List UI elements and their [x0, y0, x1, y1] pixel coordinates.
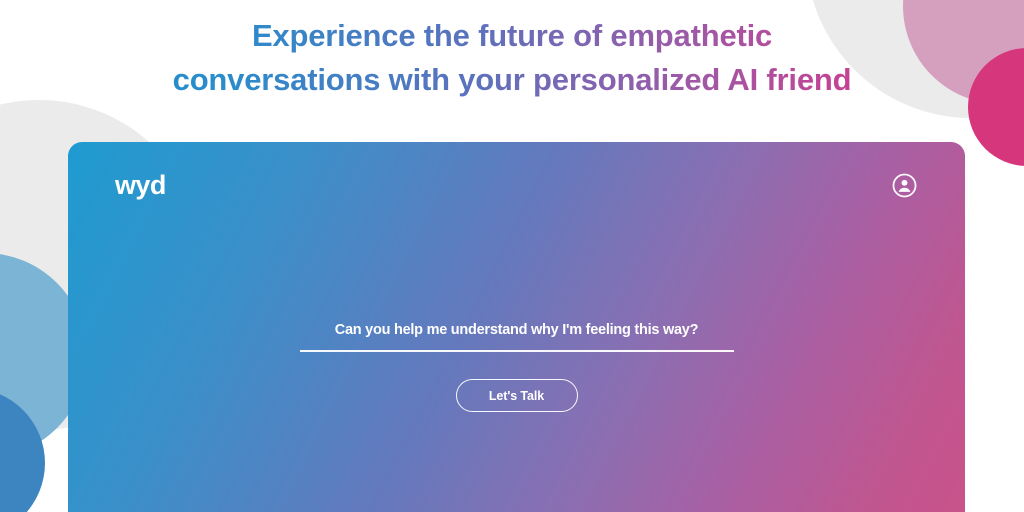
page-title: Experience the future of empathetic conv… [0, 14, 1024, 102]
app-header: wyd [68, 142, 965, 228]
app-preview-card: wyd Can you help me understand why I'm f… [68, 142, 965, 512]
page-title-line-2: conversations with your personalized AI … [0, 58, 1024, 102]
brand-logo[interactable]: wyd [115, 172, 166, 199]
lets-talk-button[interactable]: Let's Talk [456, 379, 578, 412]
app-main-content: Can you help me understand why I'm feeli… [68, 322, 965, 412]
account-circle-icon[interactable] [892, 173, 917, 198]
prompt-input-value: Can you help me understand why I'm feeli… [300, 322, 734, 339]
page-root: Experience the future of empathetic conv… [0, 0, 1024, 512]
page-title-line-1: Experience the future of empathetic [0, 14, 1024, 58]
prompt-input[interactable]: Can you help me understand why I'm feeli… [300, 322, 734, 352]
